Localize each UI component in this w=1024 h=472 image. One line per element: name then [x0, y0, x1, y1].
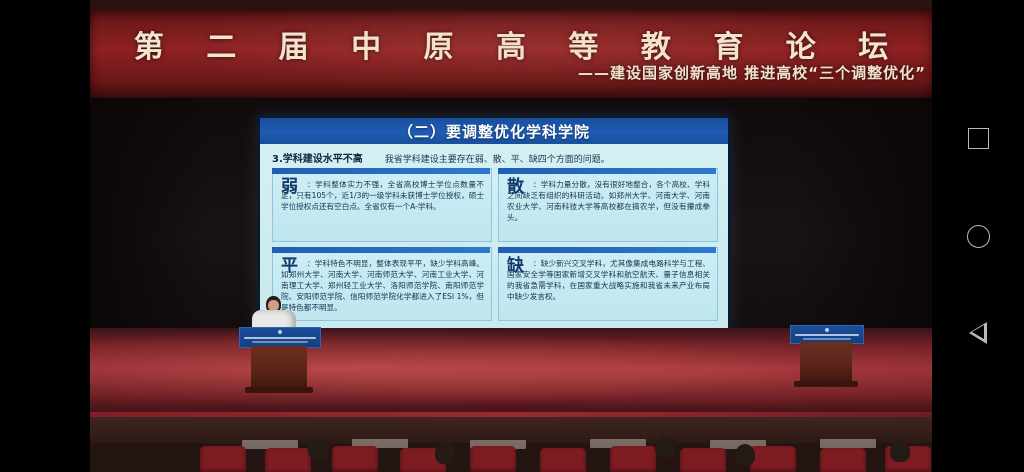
podium-left-placard: [239, 327, 321, 348]
audience-head: [655, 436, 675, 458]
banner-subtitle: ——建设国家创新高地 推进高校“三个调整优化”: [578, 62, 926, 83]
placard-text-line: [803, 338, 851, 340]
projection-screen: （二）要调整优化学科学院 3.学科建设水平不高 我省学科建设主要存在弱、散、平、…: [257, 115, 731, 355]
podium-right: [790, 325, 862, 389]
subheading-lead: 3.学科建设水平不高: [272, 150, 363, 165]
placard-emblem-icon: [278, 330, 282, 334]
audience-seat: [750, 446, 796, 472]
quadrant-text: ：学科力量分散，没有很好地整合，各个高校、学科之间缺乏有组织的科研活动。如郑州大…: [507, 179, 710, 223]
back-button[interactable]: [960, 315, 996, 351]
audience-seat: [470, 446, 516, 472]
event-banner: 第 二 届 中 原 高 等 教 育 论 坛 ——建设国家创新高地 推进高校“三个…: [90, 10, 932, 98]
audience-seat: [265, 448, 311, 472]
slide-content: （二）要调整优化学科学院 3.学科建设水平不高 我省学科建设主要存在弱、散、平、…: [260, 118, 728, 352]
quadrant-glyph: 缺: [507, 258, 524, 275]
quadrant-text: ：学科特色不明显，整体表现平平，缺少学科高峰。如郑州大学、河南大学、河南师范大学…: [281, 258, 484, 313]
slide-body: 3.学科建设水平不高 我省学科建设主要存在弱、散、平、缺四个方面的问题。 ：学科…: [260, 144, 728, 328]
quadrant-glyph: 弱: [281, 179, 298, 196]
placard-text-line: [252, 341, 308, 343]
quadrant-cap: [272, 247, 490, 253]
audience-seat: [820, 448, 866, 472]
android-navigation-bar: [932, 0, 1024, 472]
subheading-description: 我省学科建设主要存在弱、散、平、缺四个方面的问题。: [385, 152, 610, 165]
audience-head: [735, 444, 755, 466]
quadrant-cap: [498, 168, 716, 174]
audience-head: [890, 440, 910, 462]
audience-desk-paper: [820, 439, 876, 448]
podium-left-base: [245, 387, 313, 393]
podium-left-body: [251, 346, 307, 387]
podium-right-body: [800, 342, 852, 381]
slide-subheading: 3.学科建设水平不高 我省学科建设主要存在弱、散、平、缺四个方面的问题。: [272, 150, 718, 165]
podium-left: [239, 327, 319, 395]
audience-seat: [610, 446, 656, 472]
phone-screen: 第 二 届 中 原 高 等 教 育 论 坛 ——建设国家创新高地 推进高校“三个…: [0, 0, 1024, 472]
placard-text-line: [244, 337, 316, 339]
audience-seat: [540, 448, 586, 472]
triangle-icon: [969, 322, 988, 344]
audience-head: [308, 438, 328, 460]
video-player-surface[interactable]: 第 二 届 中 原 高 等 教 育 论 坛 ——建设国家创新高地 推进高校“三个…: [90, 0, 932, 472]
quadrant-glyph: 平: [281, 258, 298, 275]
quadrant-san: ：学科力量分散，没有很好地整合，各个高校、学科之间缺乏有组织的科研活动。如郑州大…: [498, 168, 718, 242]
quadrant-cap: [498, 247, 716, 253]
letterbox-left: [0, 0, 90, 472]
banner-main-title: 第 二 届 中 原 高 等 教 育 论 坛: [90, 22, 932, 66]
quadrant-que: ：缺少新兴交叉学科，尤其像集成电路科学与工程、国家安全学等国家新增交叉学科和航空…: [498, 247, 718, 321]
home-button[interactable]: [960, 218, 996, 254]
audience-seat: [680, 448, 726, 472]
audience-area: [90, 412, 932, 472]
audience-seat: [200, 446, 246, 472]
recents-button[interactable]: [960, 120, 996, 156]
audience-seat: [332, 446, 378, 472]
slide-title: （二）要调整优化学科学院: [260, 118, 728, 144]
quadrant-text: ：缺少新兴交叉学科，尤其像集成电路科学与工程、国家安全学等国家新增交叉学科和航空…: [507, 258, 710, 302]
quadrant-cap: [272, 168, 490, 174]
quadrant-ping: ：学科特色不明显，整体表现平平，缺少学科高峰。如郑州大学、河南大学、河南师范大学…: [272, 247, 492, 321]
square-icon: [968, 128, 989, 149]
audience-head: [435, 442, 455, 464]
podium-right-base: [794, 381, 858, 387]
quadrant-ruo: ：学科整体实力不强，全省高校博士学位点数量不足，只有105个，近1/3的一级学科…: [272, 168, 492, 242]
circle-icon: [967, 225, 990, 248]
quadrant-glyph: 散: [507, 179, 524, 196]
placard-text-line: [795, 334, 859, 336]
placard-emblem-icon: [825, 328, 829, 332]
quadrant-text: ：学科整体实力不强，全省高校博士学位点数量不足，只有105个，近1/3的一级学科…: [281, 179, 484, 212]
